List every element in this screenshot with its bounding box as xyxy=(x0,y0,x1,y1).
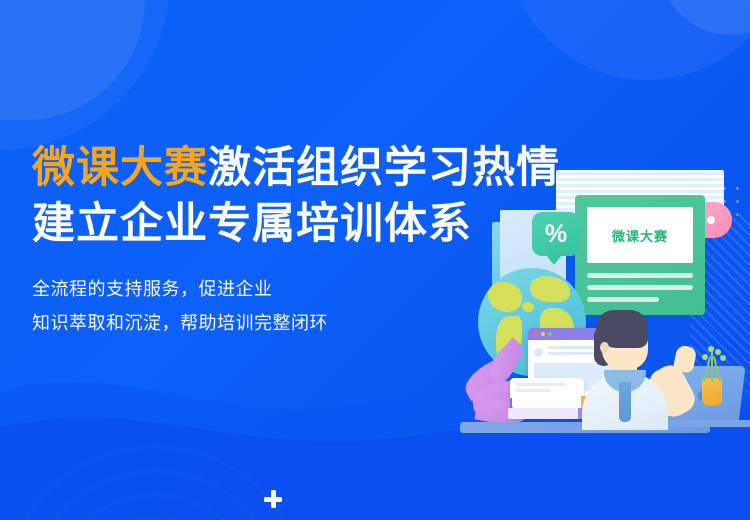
banner-copy: 微课大赛激活组织学习热情 建立企业专属培训体系 全流程的支持服务，促进企业 知识… xyxy=(32,140,502,340)
person-ear xyxy=(600,342,609,353)
browser-close-dot-icon xyxy=(534,332,538,336)
course-card-title-area: 微课大赛 xyxy=(587,207,693,263)
subtitle-line-1: 全流程的支持服务，促进企业 xyxy=(32,272,502,306)
video-card-lines xyxy=(510,378,584,392)
percent-badge: % xyxy=(532,212,580,256)
course-card: 微课大赛 xyxy=(575,195,705,315)
concentric-rings-decoration xyxy=(0,415,320,520)
course-card-title: 微课大赛 xyxy=(612,226,668,245)
headline-rest: 建立企业专属培训体系 xyxy=(32,200,472,248)
top-right-circle-large xyxy=(505,0,750,80)
headline-line-2: 建立企业专属培训体系 xyxy=(32,196,502,252)
plus-mark-icon xyxy=(264,490,282,508)
top-left-round-shape-outer xyxy=(0,0,170,150)
headline-line-1: 微课大赛激活组织学习热情 xyxy=(32,140,502,196)
avatar-placeholder xyxy=(534,348,543,357)
headline-highlight: 微课大赛 xyxy=(32,144,208,192)
browser-minimize-dot-icon xyxy=(541,332,545,336)
plant-vase xyxy=(702,378,722,406)
laptop-base xyxy=(656,420,750,427)
headline-rest: 激活组织学习热情 xyxy=(208,144,560,192)
hero-illustration: 微课大赛 % xyxy=(470,150,750,520)
browser-maximize-dot-icon xyxy=(548,332,552,336)
promo-banner: 微课大赛 % xyxy=(0,0,750,520)
top-left-round-shape-inner xyxy=(0,0,145,120)
subtitle-block: 全流程的支持服务，促进企业 知识萃取和沉淀，帮助培训完整闭环 xyxy=(32,272,502,340)
bubble-dot xyxy=(707,216,715,224)
subtitle-line-2: 知识萃取和沉淀，帮助培训完整闭环 xyxy=(32,306,502,340)
top-right-circle-small xyxy=(660,0,750,35)
percent-badge-label: % xyxy=(545,222,567,247)
person-tie xyxy=(619,382,631,422)
